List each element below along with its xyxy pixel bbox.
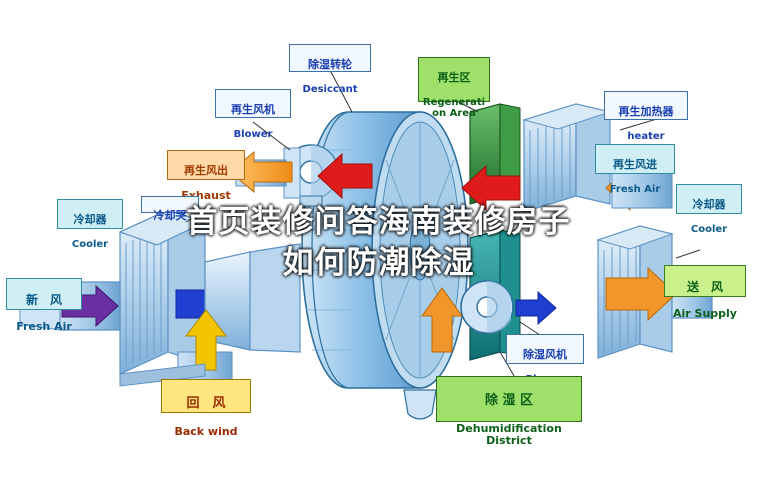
label-cooler-right: 冷却器 Cooler: [676, 184, 742, 214]
label-regeneration-heater-cn: 再生加热器: [605, 106, 687, 118]
label-dehumidification-district: 除 湿 区 Dehumidification District: [436, 376, 582, 422]
label-cooler-right-cn: 冷却器: [677, 199, 741, 211]
diagram-canvas: 除湿转轮 Desiccant 再生风机 Blower 再生区 Regenerat…: [0, 0, 757, 488]
label-regeneration-area: 再生区 Regenerati on Area: [418, 57, 490, 102]
label-cooler-left-en: Cooler: [58, 239, 122, 250]
label-dehumidification-district-en: Dehumidification District: [437, 423, 581, 448]
label-desiccant-wheel-en: Desiccant: [290, 84, 370, 95]
label-cooler-right-en: Cooler: [677, 224, 741, 235]
label-air-supply: 送 风 Air Supply: [664, 265, 746, 297]
label-air-supply-cn: 送 风: [665, 281, 745, 294]
label-fresh-air-en: Fresh Air: [7, 321, 81, 333]
label-exhaust: 再生风出 Exhaust: [167, 150, 245, 180]
label-cooling-tower-cn: 冷却哭: [142, 210, 198, 222]
label-fresh-air: 新 风 Fresh Air: [6, 278, 82, 310]
label-desiccant-wheel-cn: 除湿转轮: [290, 59, 370, 71]
label-dehumidify-blower: 除湿风机 Blower: [506, 334, 584, 364]
label-regeneration-blower-cn: 再生风机: [216, 104, 290, 116]
label-desiccant-wheel: 除湿转轮 Desiccant: [289, 44, 371, 72]
label-regeneration-blower-en: Blower: [216, 129, 290, 140]
label-fresh-air-in-cn: 再生风进: [596, 159, 674, 171]
label-regeneration-heater-en: heater: [605, 131, 687, 142]
label-back-wind-en: Back wind: [162, 426, 250, 438]
label-dehumidify-blower-cn: 除湿风机: [507, 349, 583, 361]
label-fresh-air-in-en: Fresh Air: [596, 184, 674, 195]
label-regeneration-area-en: Regenerati on Area: [419, 97, 489, 119]
label-back-wind-cn: 回 风: [162, 397, 250, 412]
label-regeneration-area-cn: 再生区: [419, 72, 489, 84]
label-cooler-left: 冷却器 Cooler: [57, 199, 123, 229]
label-fresh-air-in: 再生风进 Fresh Air: [595, 144, 675, 174]
label-cooling-tower: 冷却哭: [141, 196, 199, 213]
label-air-supply-en: Air Supply: [665, 308, 745, 320]
label-regeneration-heater: 再生加热器 heater: [604, 91, 688, 120]
label-fresh-air-cn: 新 风: [7, 294, 81, 307]
label-exhaust-cn: 再生风出: [168, 165, 244, 177]
label-back-wind: 回 风 Back wind: [161, 379, 251, 413]
label-cooler-left-cn: 冷却器: [58, 214, 122, 226]
label-regeneration-blower: 再生风机 Blower: [215, 89, 291, 118]
dehumidify-blower-graphic: [461, 281, 513, 333]
label-dehumidification-district-cn: 除 湿 区: [437, 394, 581, 409]
